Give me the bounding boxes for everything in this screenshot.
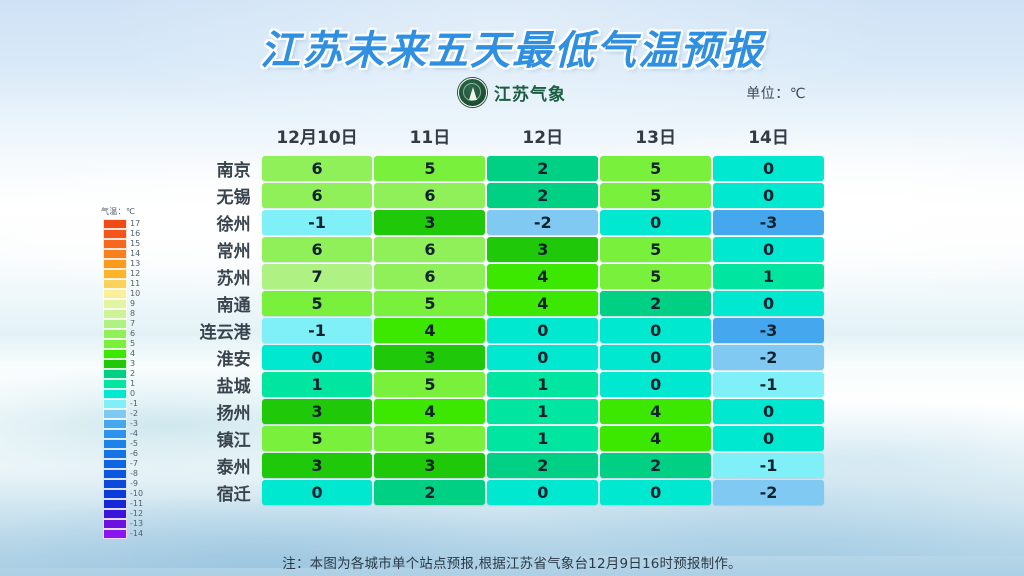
city-label: 无锡 <box>188 183 260 208</box>
table-row: 无锡66250 <box>188 183 824 208</box>
temperature-cell: 4 <box>600 399 711 424</box>
legend-swatch <box>103 469 127 479</box>
temperature-cell: 0 <box>713 156 824 181</box>
temperature-cell: 5 <box>262 291 373 316</box>
table-row: 连云港-1400-3 <box>188 318 824 343</box>
city-label: 盐城 <box>188 372 260 397</box>
temperature-cell: 0 <box>600 210 711 235</box>
page-title: 江苏未来五天最低气温预报 <box>260 18 764 76</box>
table-row: 淮安0300-2 <box>188 345 824 370</box>
table-row: 镇江55140 <box>188 426 824 451</box>
temperature-cell: 1 <box>487 426 598 451</box>
legend-tick-label: 4 <box>130 349 143 359</box>
temperature-cell: 7 <box>262 264 373 289</box>
legend-swatch <box>103 339 127 349</box>
legend-tick-column: 17161514131211109876543210-1-2-3-4-5-6-7… <box>130 219 143 539</box>
city-label: 宿迁 <box>188 480 260 505</box>
temperature-cell: -1 <box>262 210 373 235</box>
legend-swatch-column <box>103 219 127 539</box>
brand-logo: 江苏气象 <box>458 78 566 107</box>
footnote: 注：本图为各城市单个站点预报,根据江苏省气象台12月9日16时预报制作。 <box>0 552 1024 572</box>
legend-tick-label: 16 <box>130 229 143 239</box>
table-row: 苏州76451 <box>188 264 824 289</box>
column-header-day-1: 12月10日 <box>262 120 373 154</box>
legend-tick-label: -14 <box>130 529 143 539</box>
temperature-cell: 0 <box>600 345 711 370</box>
legend-swatch <box>103 509 127 519</box>
city-label: 连云港 <box>188 318 260 343</box>
legend-swatch <box>103 529 127 539</box>
legend-swatch <box>103 329 127 339</box>
legend-swatch <box>103 429 127 439</box>
city-label: 南通 <box>188 291 260 316</box>
legend-tick-label: -7 <box>130 459 143 469</box>
city-label: 淮安 <box>188 345 260 370</box>
legend-tick-label: 11 <box>130 279 143 289</box>
logo-row: 江苏气象 <box>0 78 1024 110</box>
legend-swatch <box>103 349 127 359</box>
temperature-cell: 6 <box>262 237 373 262</box>
city-label: 南京 <box>188 156 260 181</box>
title-bar: 江苏未来五天最低气温预报 <box>0 18 1024 76</box>
temperature-cell: 0 <box>713 399 824 424</box>
legend-swatch <box>103 319 127 329</box>
legend-tick-label: 1 <box>130 379 143 389</box>
legend-tick-label: 13 <box>130 259 143 269</box>
city-label: 苏州 <box>188 264 260 289</box>
legend-tick-label: -13 <box>130 519 143 529</box>
temperature-cell: 4 <box>374 318 485 343</box>
legend-tick-label: 6 <box>130 329 143 339</box>
legend-tick-label: -9 <box>130 479 143 489</box>
legend-swatch <box>103 409 127 419</box>
legend-swatch <box>103 259 127 269</box>
temperature-cell: 6 <box>262 156 373 181</box>
legend-swatch <box>103 249 127 259</box>
legend-tick-label: -3 <box>130 419 143 429</box>
temperature-cell: 2 <box>487 156 598 181</box>
temperature-cell: 5 <box>262 426 373 451</box>
legend-swatch <box>103 489 127 499</box>
legend-tick-label: -5 <box>130 439 143 449</box>
legend-swatch <box>103 279 127 289</box>
temperature-cell: 4 <box>487 291 598 316</box>
temperature-cell: 3 <box>262 399 373 424</box>
temperature-cell: 0 <box>262 345 373 370</box>
legend-tick-label: 14 <box>130 249 143 259</box>
temperature-cell: 0 <box>600 318 711 343</box>
temperature-cell: 1 <box>487 372 598 397</box>
temperature-cell: -1 <box>262 318 373 343</box>
column-header-day-2: 11日 <box>374 120 485 154</box>
legend-swatch <box>103 289 127 299</box>
temperature-cell: 1 <box>487 399 598 424</box>
legend-tick-label: 12 <box>130 269 143 279</box>
table-row: 宿迁0200-2 <box>188 480 824 505</box>
legend-swatch <box>103 229 127 239</box>
temperature-cell: 5 <box>374 291 485 316</box>
temperature-cell: -2 <box>713 345 824 370</box>
legend-swatch <box>103 299 127 309</box>
table-row: 常州66350 <box>188 237 824 262</box>
temperature-cell: 3 <box>374 453 485 478</box>
temperature-cell: 6 <box>374 237 485 262</box>
temperature-cell: 4 <box>374 399 485 424</box>
temperature-cell: 5 <box>374 426 485 451</box>
temperature-cell: -2 <box>713 480 824 505</box>
legend-swatch <box>103 389 127 399</box>
temperature-cell: 4 <box>600 426 711 451</box>
column-header-day-4: 13日 <box>600 120 711 154</box>
weather-bureau-badge-icon <box>458 78 487 107</box>
temperature-cell: 5 <box>374 372 485 397</box>
temperature-cell: -3 <box>713 210 824 235</box>
temperature-cell: 6 <box>262 183 373 208</box>
temperature-cell: 0 <box>713 426 824 451</box>
legend-swatch <box>103 519 127 529</box>
temperature-cell: 4 <box>487 264 598 289</box>
legend-swatch <box>103 269 127 279</box>
temperature-cell: 0 <box>600 372 711 397</box>
temperature-cell: 6 <box>374 264 485 289</box>
table-corner-cell <box>188 120 260 154</box>
legend-swatch <box>103 479 127 489</box>
temperature-cell: 1 <box>713 264 824 289</box>
column-header-day-5: 14日 <box>713 120 824 154</box>
temperature-cell: 5 <box>374 156 485 181</box>
unit-label: 单位：℃ <box>746 83 806 103</box>
forecast-table-wrap: 12月10日11日12日13日14日 南京65250无锡66250徐州-13-2… <box>186 118 826 507</box>
temperature-cell: 0 <box>262 480 373 505</box>
legend-tick-label: -4 <box>130 429 143 439</box>
legend-tick-label: 15 <box>130 239 143 249</box>
temperature-cell: 0 <box>713 237 824 262</box>
temperature-cell: -3 <box>713 318 824 343</box>
table-body: 南京65250无锡66250徐州-13-20-3常州66350苏州76451南通… <box>188 156 824 505</box>
temperature-cell: -1 <box>713 453 824 478</box>
temperature-cell: 2 <box>487 453 598 478</box>
column-header-day-3: 12日 <box>487 120 598 154</box>
city-label: 徐州 <box>188 210 260 235</box>
legend-tick-label: -6 <box>130 449 143 459</box>
city-label: 镇江 <box>188 426 260 451</box>
legend-swatch <box>103 419 127 429</box>
temperature-cell: 5 <box>600 264 711 289</box>
legend-tick-label: 0 <box>130 389 143 399</box>
legend-swatch <box>103 309 127 319</box>
legend-tick-label: 17 <box>130 219 143 229</box>
temperature-cell: 5 <box>600 183 711 208</box>
temperature-cell: 2 <box>600 453 711 478</box>
temperature-cell: 2 <box>600 291 711 316</box>
legend-tick-label: -1 <box>130 399 143 409</box>
legend-tick-label: -8 <box>130 469 143 479</box>
legend-tick-label: 7 <box>130 319 143 329</box>
temperature-cell: 5 <box>600 237 711 262</box>
table-row: 南京65250 <box>188 156 824 181</box>
legend-swatch <box>103 439 127 449</box>
legend-swatch <box>103 499 127 509</box>
infographic-canvas: 江苏未来五天最低气温预报 江苏气象 单位：℃ 气温：℃ 171615141312… <box>0 0 1024 576</box>
legend-tick-label: 5 <box>130 339 143 349</box>
temperature-cell: 6 <box>374 183 485 208</box>
table-row: 南通55420 <box>188 291 824 316</box>
legend-tick-label: -10 <box>130 489 143 499</box>
temperature-cell: 3 <box>374 210 485 235</box>
temperature-cell: 3 <box>262 453 373 478</box>
temperature-cell: 1 <box>262 372 373 397</box>
legend-swatch <box>103 449 127 459</box>
table-row: 盐城1510-1 <box>188 372 824 397</box>
temperature-cell: 0 <box>713 183 824 208</box>
temperature-cell: 3 <box>487 237 598 262</box>
temperature-cell: -1 <box>713 372 824 397</box>
legend-tick-label: 9 <box>130 299 143 309</box>
legend-swatch <box>103 239 127 249</box>
table-row: 泰州3322-1 <box>188 453 824 478</box>
temperature-cell: 3 <box>374 345 485 370</box>
legend-swatch <box>103 359 127 369</box>
city-label: 扬州 <box>188 399 260 424</box>
temperature-cell: -2 <box>487 210 598 235</box>
table-row: 徐州-13-20-3 <box>188 210 824 235</box>
logo-label: 江苏气象 <box>494 80 566 105</box>
legend-swatch <box>103 219 127 229</box>
city-label: 泰州 <box>188 453 260 478</box>
forecast-table: 12月10日11日12日13日14日 南京65250无锡66250徐州-13-2… <box>186 118 826 507</box>
legend-swatch <box>103 459 127 469</box>
city-label: 常州 <box>188 237 260 262</box>
temperature-cell: 0 <box>487 345 598 370</box>
legend-tick-label: 8 <box>130 309 143 319</box>
table-header-row: 12月10日11日12日13日14日 <box>188 120 824 154</box>
legend-tick-label: -12 <box>130 509 143 519</box>
legend-tick-label: -2 <box>130 409 143 419</box>
temperature-cell: 2 <box>487 183 598 208</box>
temperature-cell: 2 <box>374 480 485 505</box>
temperature-cell: 0 <box>487 318 598 343</box>
legend-tick-label: 3 <box>130 359 143 369</box>
temperature-cell: 5 <box>600 156 711 181</box>
legend-swatch <box>103 399 127 409</box>
legend-caption: 气温：℃ <box>101 206 147 217</box>
temperature-cell: 0 <box>713 291 824 316</box>
legend-tick-label: 10 <box>130 289 143 299</box>
legend-tick-label: -11 <box>130 499 143 509</box>
temperature-cell: 0 <box>487 480 598 505</box>
temperature-colorbar-legend: 气温：℃ 17161514131211109876543210-1-2-3-4-… <box>103 206 149 539</box>
table-row: 扬州34140 <box>188 399 824 424</box>
legend-swatch <box>103 369 127 379</box>
legend-tick-label: 2 <box>130 369 143 379</box>
legend-swatch <box>103 379 127 389</box>
temperature-cell: 0 <box>600 480 711 505</box>
